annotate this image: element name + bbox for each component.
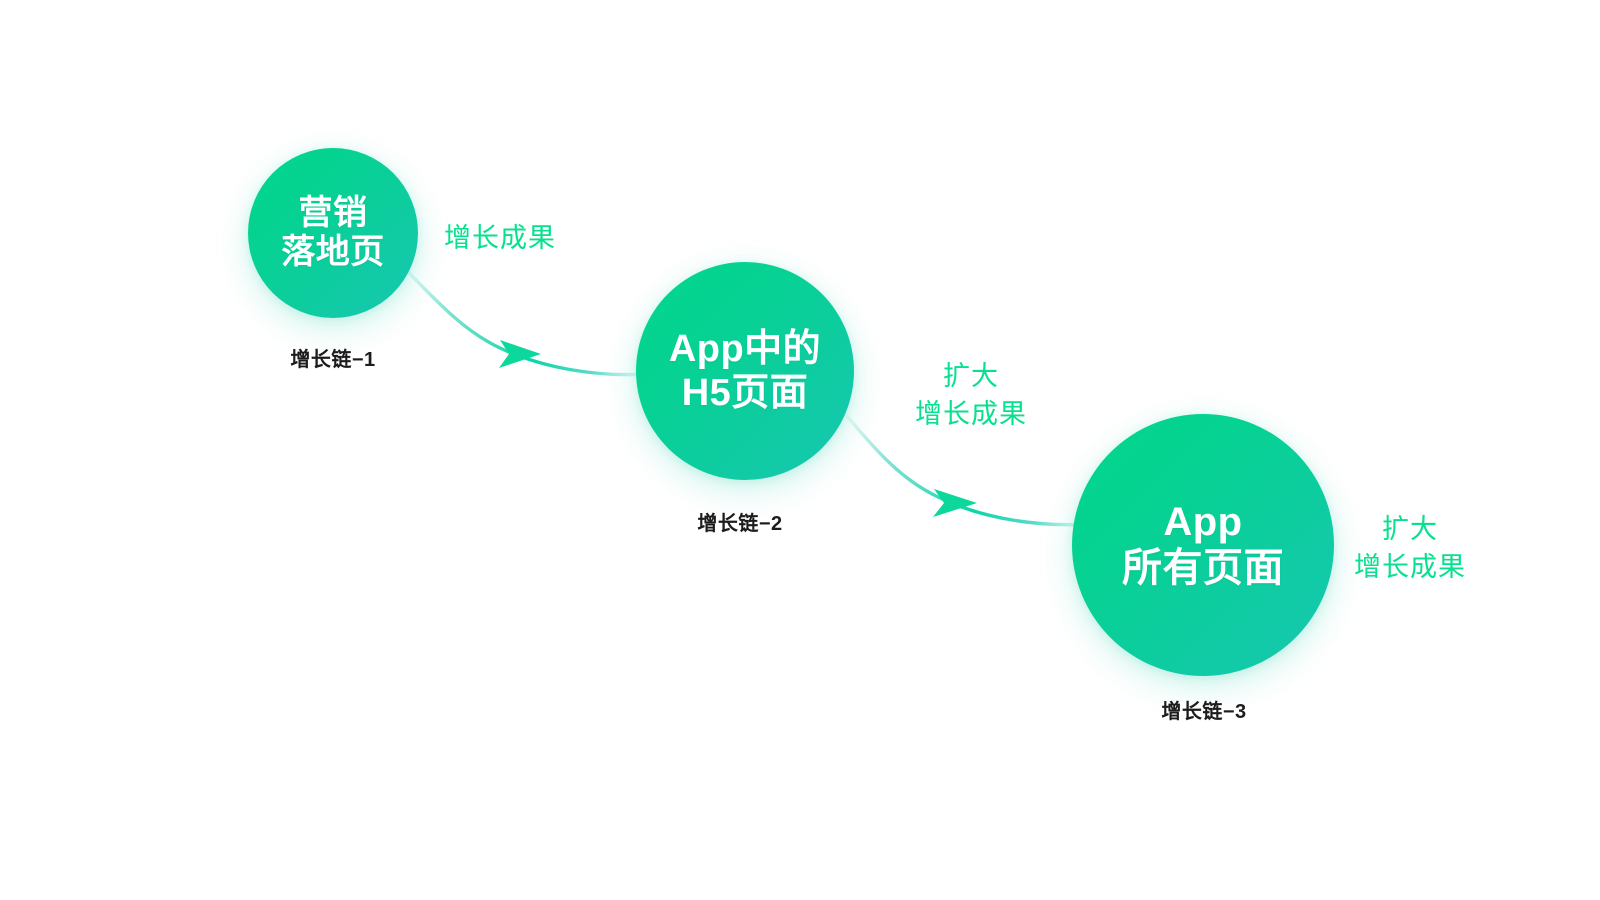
node-app-h5-page[interactable]: App中的 H5页面 (636, 262, 854, 480)
node-2-caption: 增长链−2 (697, 507, 782, 536)
node-3-label: App 所有页面 (1122, 499, 1284, 592)
edge-label-growth-result-1: 增长成果 (444, 219, 556, 257)
diagram-canvas: 营销 落地页 增长链−1 App中的 H5页面 增长链−2 App 所有页面 增… (0, 0, 1600, 900)
edge-label-expand-growth-result-3: 扩大 增长成果 (1354, 510, 1466, 587)
node-2-label: App中的 H5页面 (669, 327, 821, 415)
node-app-all-pages[interactable]: App 所有页面 (1072, 414, 1334, 676)
node-marketing-landing-page[interactable]: 营销 落地页 (248, 148, 418, 318)
arrowhead-icon (933, 489, 977, 517)
connector-arrow-1 (404, 268, 646, 375)
node-1-label: 营销 落地页 (281, 194, 385, 273)
edge-label-expand-growth-result-2: 扩大 增长成果 (915, 357, 1027, 434)
node-1-caption: 增长链−1 (290, 343, 375, 372)
arrowhead-icon (499, 340, 541, 368)
node-3-caption: 增长链−3 (1161, 695, 1246, 724)
